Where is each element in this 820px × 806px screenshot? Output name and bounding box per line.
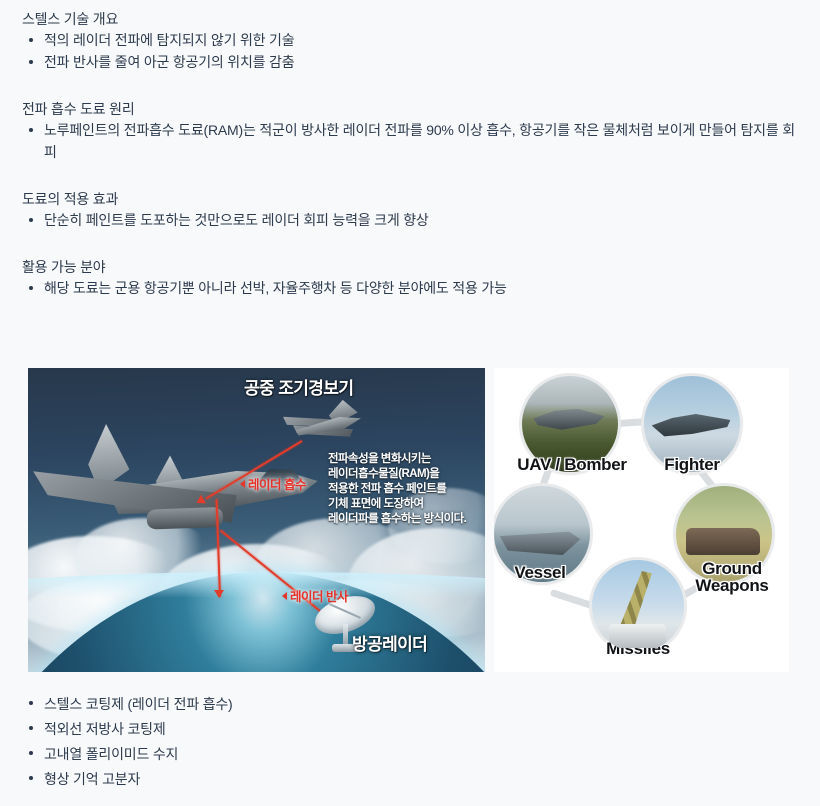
desc-line: 레이더흡수물질(RAM)을 bbox=[328, 467, 485, 482]
section-ram-principle: 전파 흡수 도료 원리 노루페인트의 전파흡수 도료(RAM)는 적군이 방사한… bbox=[0, 99, 820, 163]
section-bullet-list: 해당 도료는 군용 항공기뿐 아니라 선박, 자율주행차 등 다양한 분야에도 … bbox=[0, 277, 820, 299]
list-item: 전파 반사를 줄여 아군 항공기의 위치를 감춤 bbox=[0, 51, 820, 73]
list-item: 노루페인트의 전파흡수 도료(RAM)는 적군이 방사한 레이더 전파를 90%… bbox=[0, 119, 820, 163]
list-item: 단순히 페인트를 도포하는 것만으로도 레이더 회피 능력을 크게 향상 bbox=[0, 209, 820, 231]
list-item: 형상 기억 고분자 bbox=[0, 767, 820, 792]
list-item: 해당 도료는 군용 항공기뿐 아니라 선박, 자율주행차 등 다양한 분야에도 … bbox=[0, 277, 820, 299]
section-stealth-overview: 스텔스 기술 개요 적의 레이더 전파에 탐지되지 않기 위한 기술 전파 반사… bbox=[0, 9, 820, 73]
left-triangle-icon bbox=[240, 480, 245, 488]
radar-reflect-label: 레이더 반사 bbox=[282, 586, 348, 605]
section-title: 활용 가능 분야 bbox=[0, 257, 820, 277]
page-root: 스텔스 기술 개요 적의 레이더 전파에 탐지되지 않기 위한 기술 전파 반사… bbox=[0, 0, 820, 806]
ram-description-text: 전파속성을 변화시키는 레이더흡수물질(RAM)을 적용한 전파 흡수 페인트를… bbox=[328, 452, 485, 527]
section-title: 도료의 적용 효과 bbox=[0, 189, 820, 209]
node-label-uav-bomber: UAV / Bomber bbox=[510, 456, 634, 473]
application-fields-figure: UAV / Bomber Fighter Ground Weapons Miss… bbox=[494, 368, 789, 672]
air-defense-radar-label: 방공레이더 bbox=[352, 630, 427, 655]
section-title: 전파 흡수 도료 원리 bbox=[0, 99, 820, 119]
radar-reflect-arrowhead-up bbox=[214, 590, 224, 598]
section-title: 스텔스 기술 개요 bbox=[0, 9, 820, 29]
node-label-vessel: Vessel bbox=[494, 564, 592, 581]
desc-line: 전파속성을 변화시키는 bbox=[328, 452, 485, 467]
content-sections: 스텔스 기술 개요 적의 레이더 전파에 탐지되지 않기 위한 기술 전파 반사… bbox=[0, 9, 820, 299]
spacer bbox=[0, 163, 820, 189]
figure-row: 공중 조기경보기 레이더 흡수 레이더 반사 방공레이더 전파속성을 변화시키는… bbox=[0, 368, 820, 672]
spacer bbox=[0, 231, 820, 257]
stealth-radar-absorption-figure: 공중 조기경보기 레이더 흡수 레이더 반사 방공레이더 전파속성을 변화시키는… bbox=[28, 368, 485, 672]
awacs-title-label: 공중 조기경보기 bbox=[244, 374, 353, 399]
section-bullet-list: 단순히 페인트를 도포하는 것만으로도 레이더 회피 능력을 크게 향상 bbox=[0, 209, 820, 231]
section-coating-effect: 도료의 적용 효과 단순히 페인트를 도포하는 것만으로도 레이더 회피 능력을… bbox=[0, 189, 820, 231]
desc-line: 기체 표면에 도장하여 bbox=[328, 497, 485, 512]
list-item: 적외선 저방사 코팅제 bbox=[0, 717, 820, 742]
list-item: 적의 레이더 전파에 탐지되지 않기 위한 기술 bbox=[0, 29, 820, 51]
footer-bullet-list: 스텔스 코팅제 (레이더 전파 흡수) 적외선 저방사 코팅제 고내열 폴리이미… bbox=[0, 692, 820, 792]
list-item: 고내열 폴리이미드 수지 bbox=[0, 742, 820, 767]
desc-line: 레이더파를 흡수하는 방식이다. bbox=[328, 512, 485, 527]
node-label-ground-weapons: Ground Weapons bbox=[678, 560, 786, 594]
radar-absorb-label: 레이더 흡수 bbox=[240, 474, 306, 493]
left-triangle-icon bbox=[282, 592, 287, 600]
list-item: 스텔스 코팅제 (레이더 전파 흡수) bbox=[0, 692, 820, 717]
section-bullet-list: 적의 레이더 전파에 탐지되지 않기 위한 기술 전파 반사를 줄여 아군 항공… bbox=[0, 29, 820, 73]
spacer bbox=[0, 73, 820, 99]
node-label-fighter: Fighter bbox=[640, 456, 744, 473]
desc-line: 적용한 전파 흡수 페인트를 bbox=[328, 482, 485, 497]
wheel-diagram: UAV / Bomber Fighter Ground Weapons Miss… bbox=[494, 368, 789, 672]
section-application-fields: 활용 가능 분야 해당 도료는 군용 항공기뿐 아니라 선박, 자율주행차 등 … bbox=[0, 257, 820, 299]
section-bullet-list: 노루페인트의 전파흡수 도료(RAM)는 적군이 방사한 레이더 전파를 90%… bbox=[0, 119, 820, 163]
